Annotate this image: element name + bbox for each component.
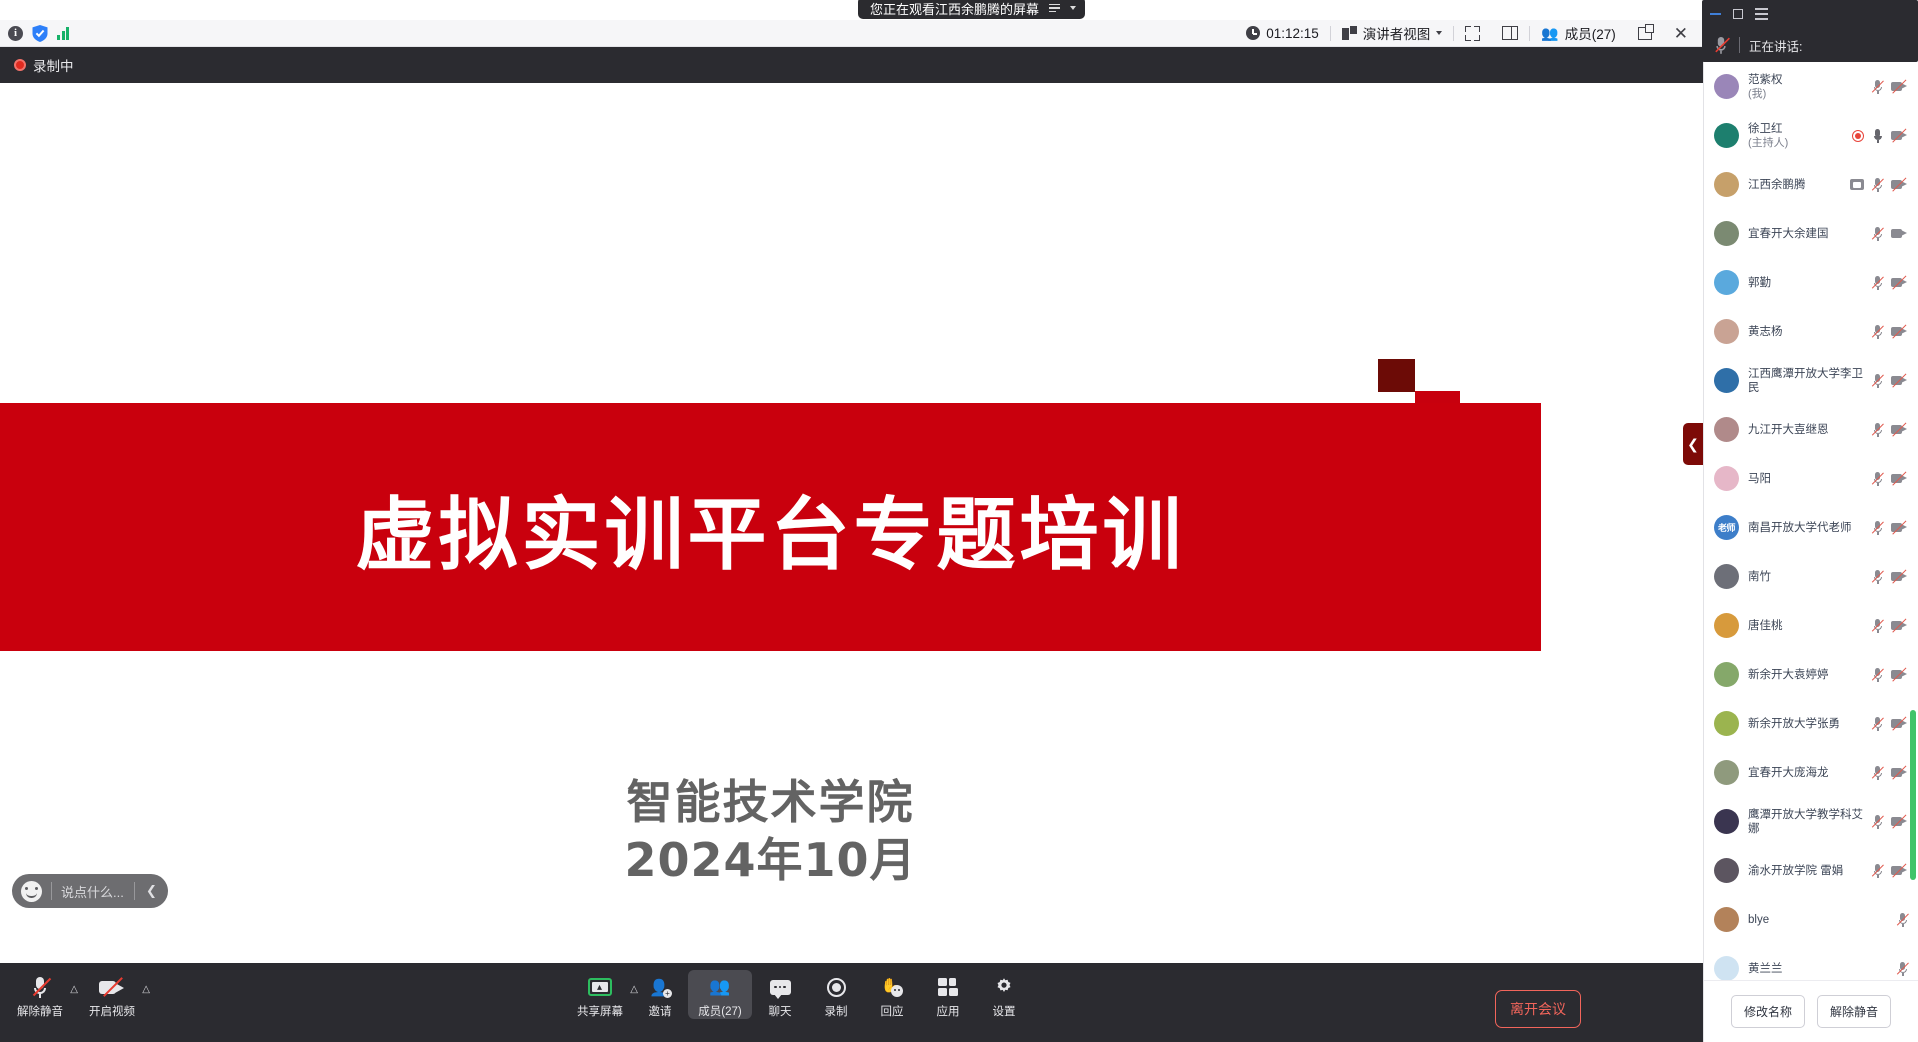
participant-name: 黄兰兰 [1748,962,1888,976]
topbar-status-icons: i [0,25,69,42]
slide-subtitle-line2: 2024年10月 [0,831,1541,889]
reactions-label: 回应 [881,1003,904,1019]
participants-panel: 搜索成员 范紫权(我)徐卫红(主持人)江西余鹏腾宜春开大余建国郭勤黄志杨江西鹰潭… [1703,20,1918,1042]
emoji-smile-icon[interactable] [21,881,42,902]
microphone-muted-icon[interactable] [1872,864,1883,878]
avatar [1714,74,1739,99]
participant-status-icons [1872,472,1912,486]
screen-share-toast-text: 您正在观看江西余鹏腾的屏幕 [870,0,1039,18]
hamburger-menu-icon[interactable] [1755,8,1768,19]
floating-chat-input[interactable]: 说点什么... ❮ [12,874,168,908]
decoration-square-dark [1378,359,1415,392]
record-button[interactable]: 录制 [808,970,864,1019]
participant-status-icons [1872,717,1912,731]
microphone-muted-icon[interactable] [1872,80,1883,94]
camera-off-icon[interactable] [1891,620,1908,632]
avatar [1714,956,1739,980]
participants-label: 成员(27) [698,1003,741,1019]
avatar [1714,172,1739,197]
participant-status-icons [1872,619,1912,633]
meeting-timer-value: 01:12:15 [1266,26,1319,41]
presentation-slide: 虚拟实训平台专题培训 智能技术学院 2024年10月 [0,83,1703,963]
participant-status-icons [1872,276,1912,290]
close-icon: ✕ [1674,25,1688,42]
participant-row[interactable]: 郭勤 [1704,258,1918,307]
window-chrome-strip [0,0,1703,20]
avatar [1714,221,1739,246]
participant-row[interactable]: 南竹 [1704,552,1918,601]
participants-icon: 👥 [709,976,730,998]
camera-off-icon[interactable] [1891,130,1908,142]
microphone-muted-icon[interactable] [1872,374,1883,388]
participant-row[interactable]: 范紫权(我) [1704,62,1918,111]
floating-window-titlebar [1702,0,1918,28]
meeting-topbar: i 01:12:15 演讲者视图 [0,20,1703,47]
microphone-muted-icon[interactable] [1872,423,1883,437]
participant-row[interactable]: 老师南昌开放大学代老师 [1704,503,1918,552]
chat-bubble-icon [770,976,791,998]
participant-name: 江西鹰潭开放大学李卫民 [1748,367,1863,395]
camera-off-icon[interactable] [1891,571,1908,583]
slide-title: 虚拟实训平台专题培训 [356,470,1186,585]
chat-input-placeholder[interactable]: 说点什么... [61,882,125,901]
slide-subtitle-line1: 智能技术学院 [0,773,1541,831]
chat-label: 聊天 [769,1003,792,1019]
view-mode-label: 演讲者视图 [1363,23,1431,43]
chevron-up-icon[interactable]: △ [70,984,78,995]
participant-name: 渝水开放学院 雷娟 [1748,864,1863,878]
participant-row[interactable]: blye [1704,895,1918,944]
participant-status-icons [1897,913,1912,927]
gear-icon [994,976,1014,998]
microphone-muted-icon [31,976,49,998]
invite-button[interactable]: 👤+ 邀请 [632,970,688,1019]
microphone-muted-icon[interactable] [1897,913,1908,927]
camera-off-icon[interactable] [1891,326,1908,338]
avatar [1714,662,1739,687]
participant-status-icons [1872,521,1912,535]
close-panel-button[interactable]: ✕ [1663,20,1699,47]
participant-row[interactable]: 宜春开大庞海龙 [1704,748,1918,797]
avatar [1714,907,1739,932]
record-dot-icon [14,59,26,71]
fullscreen-icon [1465,26,1480,41]
chevron-left-icon: ❮ [1687,436,1699,453]
microphone-muted-icon[interactable] [1872,815,1883,829]
participant-name: blye [1748,913,1888,927]
slide-subtitle-block: 智能技术学院 2024年10月 [0,773,1541,889]
screen-share-badge-icon [1850,179,1864,190]
recording-badge-icon [1852,130,1864,142]
participant-name: 唐佳桃 [1748,619,1863,633]
speaking-label: 正在讲话: [1749,36,1802,55]
speaker-view-icon [1342,26,1357,40]
chevron-down-icon[interactable] [1070,6,1076,10]
avatar [1714,613,1739,638]
camera-off-icon[interactable] [1891,816,1908,828]
clock-icon [1246,26,1260,40]
settings-label: 设置 [993,1003,1016,1019]
participant-name: 范紫权(我) [1748,73,1863,101]
participant-status-icons [1872,227,1912,241]
slide-title-band: 虚拟实训平台专题培训 [0,403,1541,651]
meeting-bottom-toolbar: 解除静音 △ 开启视频 △ ▴ 共享屏幕 △ 👤+ [0,963,1703,1042]
microphone-muted-icon[interactable] [1897,962,1908,976]
participant-name: 南昌开放大学代老师 [1748,521,1863,535]
participant-name: 鹰潭开放大学教学科艾娜 [1748,808,1863,836]
start-video-label: 开启视频 [89,1003,135,1019]
participant-row[interactable]: 马阳 [1704,454,1918,503]
participant-row[interactable]: 江西余鹏腾 [1704,160,1918,209]
share-screen-icon: ▴ [588,976,612,998]
participant-name: 新余开大袁婷婷 [1748,668,1863,682]
participant-name: 黄志杨 [1748,325,1863,339]
camera-on-icon[interactable] [1891,228,1908,240]
chevron-left-icon[interactable]: ❮ [144,883,168,899]
share-screen-label: 共享屏幕 [577,1003,623,1019]
recording-indicator-bar: 录制中 [0,47,1703,83]
avatar [1714,858,1739,883]
divider [1739,37,1740,53]
microphone-muted-icon[interactable] [1872,521,1883,535]
camera-off-icon[interactable] [1891,179,1908,191]
topbar-controls: 01:12:15 演讲者视图 👥 成员(27) [1235,20,1703,47]
avatar [1714,417,1739,442]
microphone-on-icon[interactable] [1872,129,1883,143]
avatar [1714,711,1739,736]
participant-name: 宜春开大余建国 [1748,227,1863,241]
popout-icon [1638,27,1652,40]
unmute-button[interactable]: 解除静音 △ [8,970,72,1019]
record-circle-icon [827,976,846,998]
start-video-button[interactable]: 开启视频 △ [80,970,144,1019]
microphone-muted-icon[interactable] [1872,325,1883,339]
participant-name: 新余开放大学张勇 [1748,717,1863,731]
network-signal-icon[interactable] [57,27,69,40]
rename-button[interactable]: 修改名称 [1731,995,1805,1028]
list-menu-icon[interactable] [1049,4,1060,13]
participant-name: 江西余鹏腾 [1748,178,1841,192]
avatar [1714,809,1739,834]
chat-button[interactable]: 聊天 [752,970,808,1019]
minimize-icon[interactable] [1710,13,1721,15]
avatar [1714,319,1739,344]
raise-hand-icon: ✋ [881,976,903,998]
share-screen-button[interactable]: ▴ 共享屏幕 △ [568,970,632,1019]
floating-window-body: 正在讲话: [1702,28,1918,62]
active-speaker-floating-window[interactable]: 正在讲话: [1702,0,1918,62]
split-view-icon [1502,26,1518,40]
avatar [1714,368,1739,393]
popout-button[interactable] [1627,20,1663,47]
participant-row[interactable]: 鹰潭开放大学教学科艾娜 [1704,797,1918,846]
participant-row[interactable]: 新余开大袁婷婷 [1704,650,1918,699]
participant-row[interactable]: 徐卫红(主持人) [1704,111,1918,160]
screen-share-toast: 您正在观看江西余鹏腾的屏幕 [858,0,1085,19]
divider [134,882,135,900]
microphone-muted-icon[interactable] [1872,668,1883,682]
participant-role: (我) [1748,87,1863,101]
camera-off-icon[interactable] [1891,375,1908,387]
participant-status-icons [1872,766,1912,780]
participant-row[interactable]: 黄兰兰 [1704,944,1918,980]
participant-row[interactable]: 黄志杨 [1704,307,1918,356]
invite-person-icon: 👤+ [649,976,671,998]
participant-name: 九江开大壴继恩 [1748,423,1863,437]
microphone-muted-icon [1712,36,1730,54]
participant-role: (主持人) [1748,136,1843,150]
participant-row[interactable]: 新余开放大学张勇 [1704,699,1918,748]
participant-status-icons [1872,80,1912,94]
recording-label: 录制中 [33,55,74,75]
meeting-timer: 01:12:15 [1235,20,1330,47]
reactions-button[interactable]: ✋ 回应 [864,970,920,1019]
unmute-all-button[interactable]: 解除静音 [1817,995,1891,1028]
info-icon[interactable]: i [8,26,23,41]
camera-off-icon[interactable] [1891,669,1908,681]
participant-row[interactable]: 江西鹰潭开放大学李卫民 [1704,356,1918,405]
chevron-down-icon[interactable] [1436,31,1442,35]
participants-icon: 👥 [1541,25,1558,42]
leave-meeting-button[interactable]: 离开会议 [1495,990,1581,1028]
participant-name: 郭勤 [1748,276,1863,290]
participant-name: 宜春开大庞海龙 [1748,766,1863,780]
apps-grid-icon [938,976,958,998]
participant-status-icons [1852,129,1912,143]
apps-label: 应用 [937,1003,960,1019]
collapse-panel-tab[interactable]: ❮ [1683,423,1703,465]
camera-off-icon [99,976,125,998]
participants-button[interactable]: 👥 成员(27) [688,970,752,1019]
avatar: 老师 [1714,515,1739,540]
divider [51,882,52,900]
camera-off-icon[interactable] [1891,767,1908,779]
participant-name: 马阳 [1748,472,1863,486]
participant-list-scrollbar[interactable] [1910,710,1916,880]
microphone-muted-icon[interactable] [1872,717,1883,731]
camera-off-icon[interactable] [1891,277,1908,289]
participant-status-icons [1872,374,1912,388]
participant-name: 南竹 [1748,570,1863,584]
fullscreen-button[interactable] [1454,20,1491,47]
participant-status-icons [1850,178,1912,192]
unmute-label: 解除静音 [17,1003,63,1019]
participant-status-icons [1872,668,1912,682]
avatar [1714,466,1739,491]
participant-status-icons [1872,325,1912,339]
participant-name: 徐卫红(主持人) [1748,122,1843,150]
record-label: 录制 [825,1003,848,1019]
avatar [1714,760,1739,785]
settings-button[interactable]: 设置 [976,970,1032,1019]
av-controls: 解除静音 △ 开启视频 △ [0,963,144,1019]
avatar [1714,123,1739,148]
camera-off-icon[interactable] [1891,718,1908,730]
participants-panel-footer: 修改名称 解除静音 [1704,980,1918,1042]
camera-off-icon[interactable] [1891,81,1908,93]
camera-off-icon[interactable] [1891,865,1908,877]
chevron-up-icon[interactable]: △ [142,984,150,995]
split-view-button[interactable] [1491,20,1529,47]
view-mode-dropdown[interactable]: 演讲者视图 [1331,20,1454,47]
invite-label: 邀请 [649,1003,672,1019]
participant-status-icons [1897,962,1912,976]
participant-status-icons [1872,815,1912,829]
avatar [1714,270,1739,295]
participant-row[interactable]: 唐佳桃 [1704,601,1918,650]
microphone-muted-icon[interactable] [1872,570,1883,584]
participant-status-icons [1872,864,1912,878]
apps-button[interactable]: 应用 [920,970,976,1019]
camera-off-icon[interactable] [1891,424,1908,436]
encryption-shield-icon[interactable] [32,25,48,42]
participant-status-icons [1872,423,1912,437]
participants-toggle[interactable]: 👥 成员(27) [1530,20,1626,47]
microphone-muted-icon[interactable] [1872,227,1883,241]
participants-count-label: 成员(27) [1565,23,1616,43]
avatar [1714,564,1739,589]
maximize-icon[interactable] [1733,9,1743,19]
participant-row[interactable]: 渝水开放学院 雷娟 [1704,846,1918,895]
microphone-muted-icon[interactable] [1872,619,1883,633]
microphone-muted-icon[interactable] [1872,178,1883,192]
shared-screen-area[interactable]: 虚拟实训平台专题培训 智能技术学院 2024年10月 ❮ [0,83,1703,963]
participant-row[interactable]: 宜春开大余建国 [1704,209,1918,258]
main-controls: ▴ 共享屏幕 △ 👤+ 邀请 👥 成员(27) 聊天 [568,970,1032,1019]
camera-off-icon[interactable] [1891,522,1908,534]
participant-row[interactable]: 九江开大壴继恩 [1704,405,1918,454]
participant-status-icons [1872,570,1912,584]
camera-off-icon[interactable] [1891,473,1908,485]
microphone-muted-icon[interactable] [1872,472,1883,486]
microphone-muted-icon[interactable] [1872,766,1883,780]
meeting-window: 您正在观看江西余鹏腾的屏幕 i 01:12:15 演讲者视图 [0,0,1918,1042]
microphone-muted-icon[interactable] [1872,276,1883,290]
participant-list[interactable]: 范紫权(我)徐卫红(主持人)江西余鹏腾宜春开大余建国郭勤黄志杨江西鹰潭开放大学李… [1704,62,1918,980]
